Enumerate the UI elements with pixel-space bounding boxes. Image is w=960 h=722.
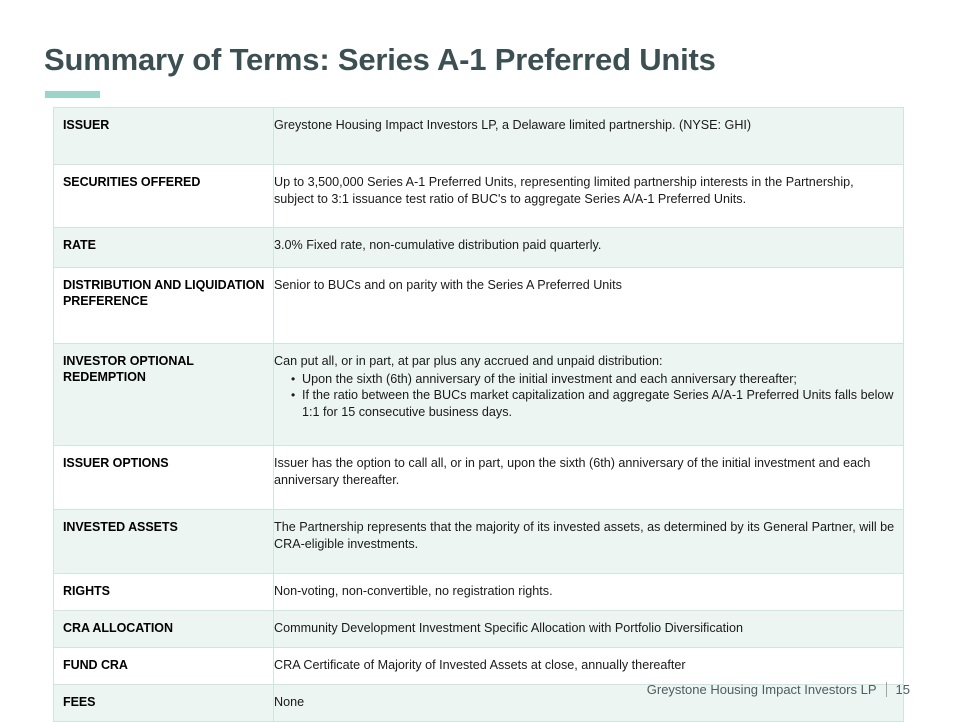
- row-value-issuer-options: Issuer has the option to call all, or in…: [274, 446, 904, 510]
- redemption-bullet-list: Upon the sixth (6th) anniversary of the …: [274, 371, 895, 422]
- list-item: Upon the sixth (6th) anniversary of the …: [291, 371, 895, 388]
- table-row: ISSUER OPTIONS Issuer has the option to …: [54, 446, 904, 510]
- table-row: INVESTOR OPTIONAL REDEMPTION Can put all…: [54, 344, 904, 446]
- row-label-distribution-liquidation-preference: DISTRIBUTION AND LIQUIDATION PREFERENCE: [54, 268, 274, 344]
- summary-of-terms-table: ISSUER Greystone Housing Impact Investor…: [53, 107, 904, 722]
- footer-divider: [886, 682, 887, 697]
- row-label-securities-offered: SECURITIES OFFERED: [54, 165, 274, 228]
- row-label-issuer-options: ISSUER OPTIONS: [54, 446, 274, 510]
- row-value-distribution-liquidation-preference: Senior to BUCs and on parity with the Se…: [274, 268, 904, 344]
- table-row: RIGHTS Non-voting, non-convertible, no r…: [54, 574, 904, 611]
- row-label-fees: FEES: [54, 685, 274, 722]
- table-row: RATE 3.0% Fixed rate, non-cumulative dis…: [54, 228, 904, 268]
- redemption-intro-text: Can put all, or in part, at par plus any…: [274, 353, 895, 370]
- list-item: If the ratio between the BUCs market cap…: [291, 387, 895, 421]
- row-value-rights: Non-voting, non-convertible, no registra…: [274, 574, 904, 611]
- row-label-rights: RIGHTS: [54, 574, 274, 611]
- row-label-issuer: ISSUER: [54, 108, 274, 165]
- table-row: INVESTED ASSETS The Partnership represen…: [54, 510, 904, 574]
- title-accent-bar: [45, 91, 100, 98]
- row-label-invested-assets: INVESTED ASSETS: [54, 510, 274, 574]
- table-row: ISSUER Greystone Housing Impact Investor…: [54, 108, 904, 165]
- slide-footer: Greystone Housing Impact Investors LP 15: [647, 682, 910, 697]
- page-title: Summary of Terms: Series A-1 Preferred U…: [44, 42, 716, 78]
- table-row: DISTRIBUTION AND LIQUIDATION PREFERENCE …: [54, 268, 904, 344]
- row-value-invested-assets: The Partnership represents that the majo…: [274, 510, 904, 574]
- row-value-fund-cra: CRA Certificate of Majority of Invested …: [274, 648, 904, 685]
- row-label-fund-cra: FUND CRA: [54, 648, 274, 685]
- table-row: CRA ALLOCATION Community Development Inv…: [54, 611, 904, 648]
- row-label-rate: RATE: [54, 228, 274, 268]
- row-value-investor-optional-redemption: Can put all, or in part, at par plus any…: [274, 344, 904, 446]
- footer-company-name: Greystone Housing Impact Investors LP: [647, 682, 877, 697]
- row-value-rate: 3.0% Fixed rate, non-cumulative distribu…: [274, 228, 904, 268]
- table-row: SECURITIES OFFERED Up to 3,500,000 Serie…: [54, 165, 904, 228]
- row-label-investor-optional-redemption: INVESTOR OPTIONAL REDEMPTION: [54, 344, 274, 446]
- row-label-cra-allocation: CRA ALLOCATION: [54, 611, 274, 648]
- row-value-issuer: Greystone Housing Impact Investors LP, a…: [274, 108, 904, 165]
- table-row: FUND CRA CRA Certificate of Majority of …: [54, 648, 904, 685]
- footer-page-number: 15: [896, 682, 910, 697]
- row-value-cra-allocation: Community Development Investment Specifi…: [274, 611, 904, 648]
- row-value-securities-offered: Up to 3,500,000 Series A-1 Preferred Uni…: [274, 165, 904, 228]
